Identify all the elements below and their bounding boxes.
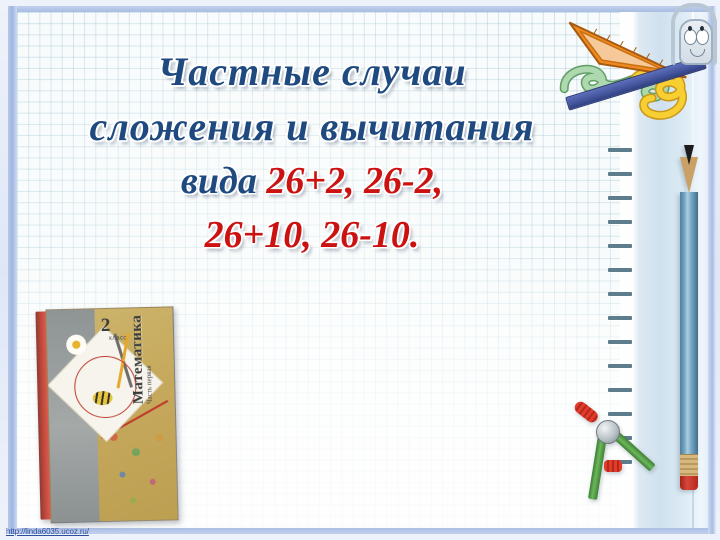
- frame-band-left: [8, 6, 17, 534]
- pencil-lead-tip: [684, 145, 694, 165]
- ruler-tick: [608, 268, 632, 272]
- ruler-tick: [608, 292, 632, 296]
- paperclip-mascot-icon: [667, 3, 713, 69]
- book-grade-number: 2: [101, 315, 111, 337]
- paperclip-pupil-right: [700, 26, 704, 31]
- pencil-ferrule: [680, 454, 698, 477]
- book-grade-word: класс: [109, 335, 127, 341]
- drawing-compass-icon: [574, 398, 652, 500]
- book-subtitle: Часть первая: [145, 365, 154, 404]
- compass-knob: [604, 460, 622, 472]
- compass-head: [596, 420, 620, 444]
- paperclip-face: [679, 19, 713, 65]
- paperclip-mouth: [690, 49, 705, 57]
- book-cover: 2 класс Математика Часть первая: [45, 306, 178, 523]
- pencil-icon: [680, 145, 698, 490]
- presentation-slide: 2 класс Математика Часть первая Частные …: [0, 0, 720, 540]
- ruler-tick: [608, 364, 632, 368]
- ruler-tick: [608, 244, 632, 248]
- ruler-tick: [608, 172, 632, 176]
- math-textbook: 2 класс Математика Часть первая: [35, 306, 176, 521]
- pencil-eraser: [680, 476, 698, 490]
- ruler-tick: [608, 316, 632, 320]
- pencil-body: [680, 192, 698, 454]
- source-watermark-link[interactable]: http://linda6035.ucoz.ru/: [6, 527, 89, 536]
- ruler-tick: [608, 340, 632, 344]
- book-cover-decor-dots: [101, 425, 175, 515]
- paperclip-pupil-left: [688, 26, 692, 31]
- compass-handle: [572, 399, 600, 424]
- ruler-tick: [608, 148, 632, 152]
- ruler-tick: [608, 220, 632, 224]
- frame-band-bottom: [8, 527, 712, 534]
- ruler-tick: [608, 196, 632, 200]
- paperclip-eye-right: [696, 29, 709, 45]
- ruler-tick: [608, 388, 632, 392]
